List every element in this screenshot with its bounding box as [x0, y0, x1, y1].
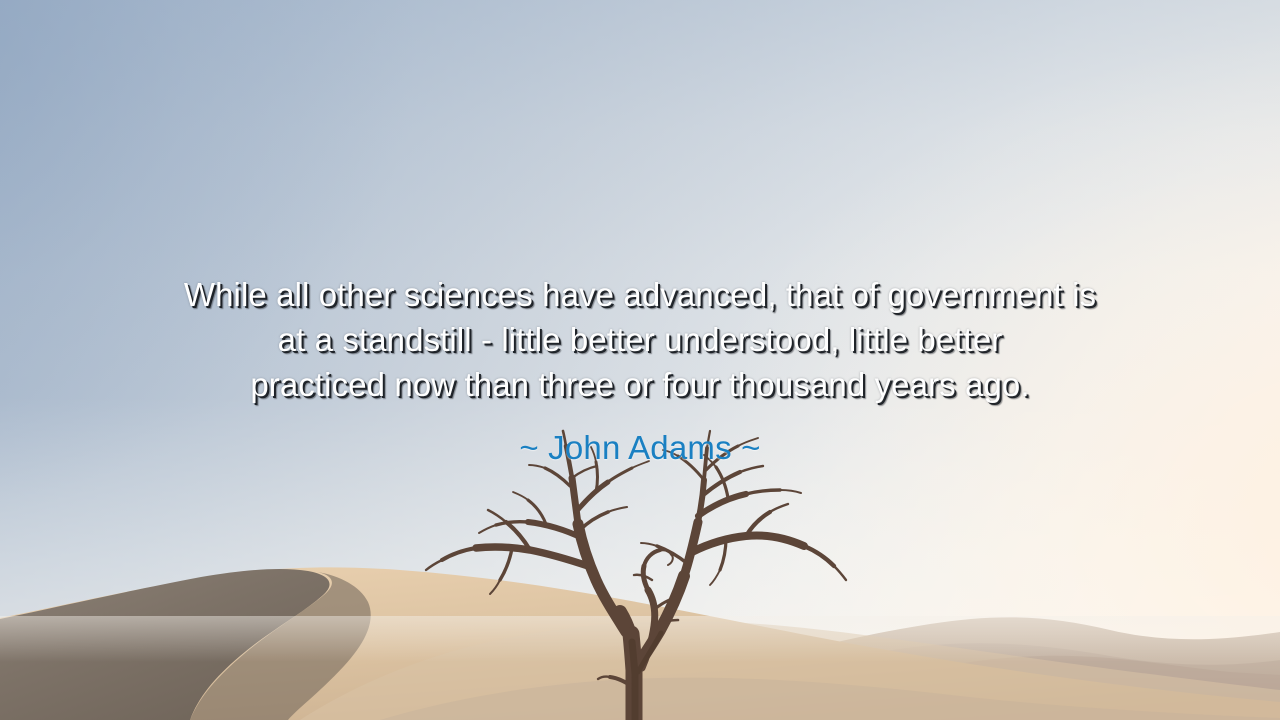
quote-overlay: While all other sciences have advanced, …: [0, 272, 1280, 468]
quote-text: While all other sciences have advanced, …: [56, 272, 1224, 407]
quote-attribution: ~ John Adams ~: [56, 407, 1224, 468]
quote-image-canvas: While all other sciences have advanced, …: [0, 0, 1280, 720]
